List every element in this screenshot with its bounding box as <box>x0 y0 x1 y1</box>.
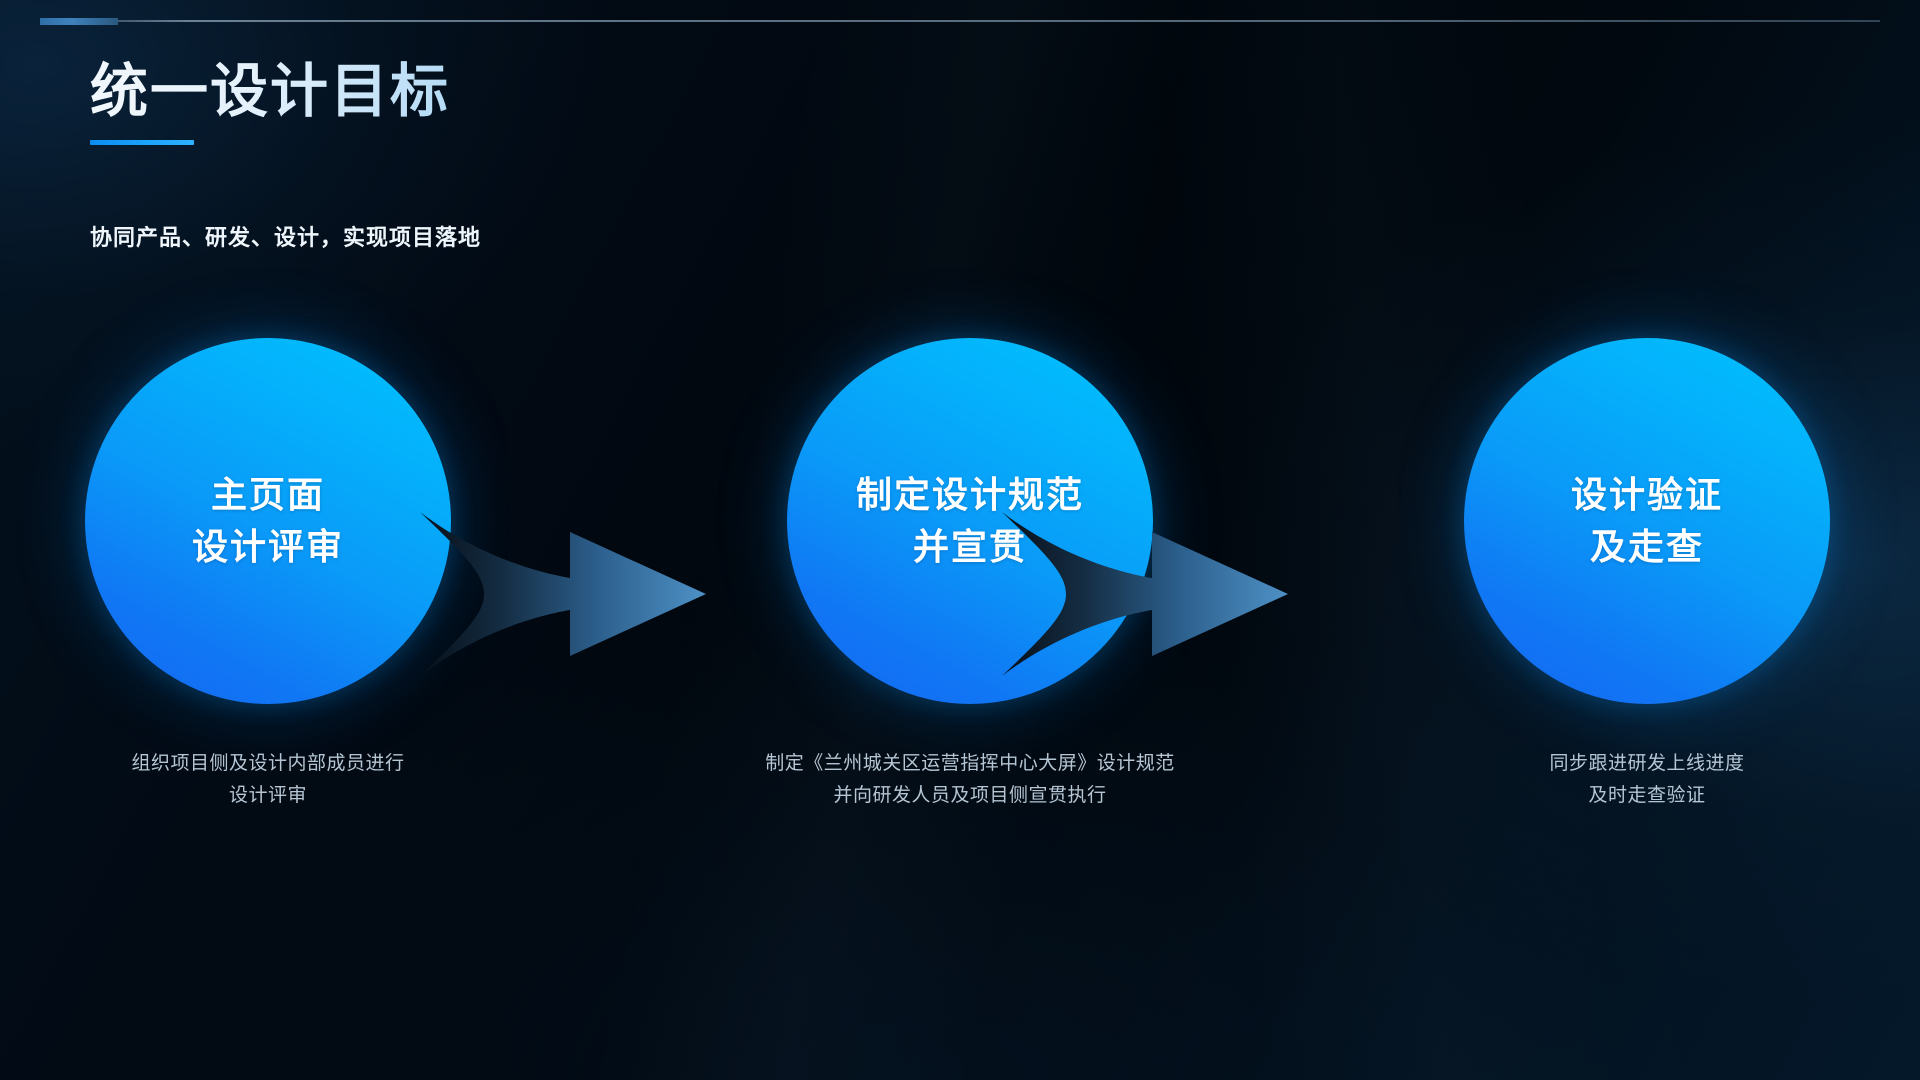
stage-1-caption: 组织项目侧及设计内部成员进行 设计评审 <box>48 748 488 812</box>
process-stage-1: 主页面 设计评审 组织项目侧及设计内部成员进行 设计评审 <box>58 338 478 812</box>
slide-canvas: 统一设计目标 协同产品、研发、设计，实现项目落地 主页面 设计评审 组织项目侧及… <box>0 0 1920 1080</box>
process-stage-2: 制定设计规范 并宣贯 制定《兰州城关区运营指挥中心大屏》设计规范 并向研发人员及… <box>760 338 1180 812</box>
heading-block: 统一设计目标 <box>90 58 990 145</box>
stage-3-bubble: 设计验证 及走查 <box>1464 338 1830 704</box>
stage-1-bubble: 主页面 设计评审 <box>85 338 451 704</box>
page-title: 统一设计目标 <box>90 58 990 126</box>
stage-2-bubble: 制定设计规范 并宣贯 <box>787 338 1153 704</box>
stage-3-caption: 同步跟进研发上线进度 及时走查验证 <box>1427 748 1867 812</box>
stage-1-label: 主页面 设计评审 <box>192 469 344 573</box>
page-subtitle: 协同产品、研发、设计，实现项目落地 <box>90 220 481 252</box>
title-underline <box>90 140 194 145</box>
top-divider-accent-tab <box>40 18 118 25</box>
stage-2-caption: 制定《兰州城关区运营指挥中心大屏》设计规范 并向研发人员及项目侧宣贯执行 <box>710 748 1230 812</box>
top-divider <box>0 18 1920 24</box>
top-divider-hairline <box>40 20 1880 22</box>
stage-2-label: 制定设计规范 并宣贯 <box>856 469 1084 573</box>
process-stage-3: 设计验证 及走查 同步跟进研发上线进度 及时走查验证 <box>1437 338 1857 812</box>
stage-3-label: 设计验证 及走查 <box>1571 469 1723 573</box>
process-flow: 主页面 设计评审 组织项目侧及设计内部成员进行 设计评审 <box>0 338 1920 898</box>
